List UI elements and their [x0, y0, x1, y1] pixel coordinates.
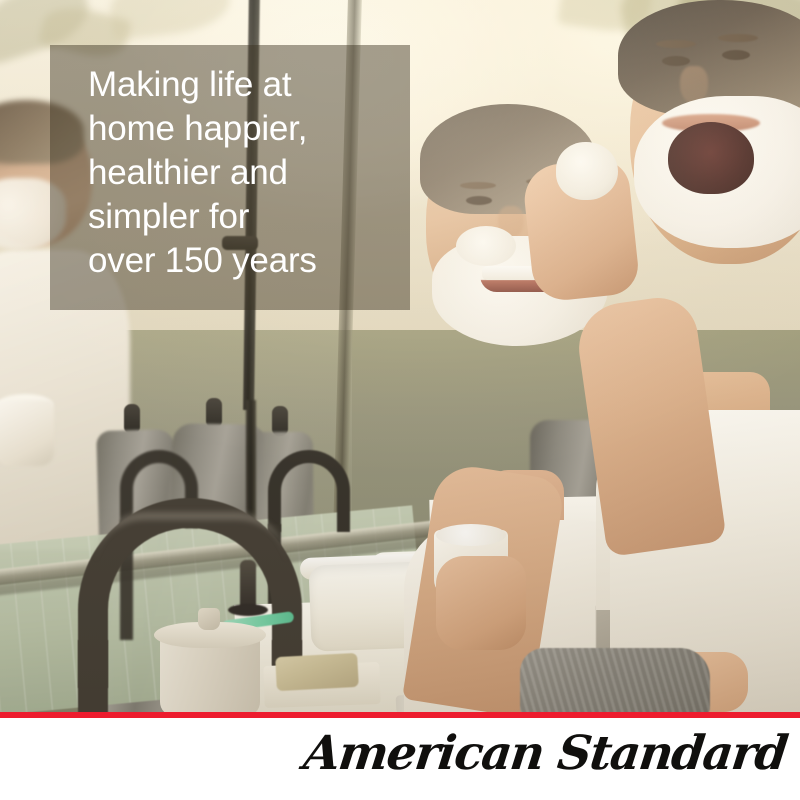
reflected-cup — [0, 400, 54, 466]
father-eye-left — [466, 196, 492, 205]
knit-towel — [520, 648, 710, 713]
son-open-mouth — [668, 122, 754, 194]
american-standard-logo: American Standard — [300, 726, 789, 781]
faucet-secondary — [268, 450, 350, 532]
son-eyebrow-right — [718, 34, 758, 42]
son-eyebrow-left — [656, 40, 696, 48]
father-eyebrow-left — [460, 182, 496, 189]
ceramic-jar-knob — [198, 608, 220, 630]
son-eye-left — [662, 56, 690, 66]
son-eye-right — [722, 50, 750, 60]
headline-text: Making life at home happier, healthier a… — [88, 63, 388, 283]
faucet-main-highlight — [96, 512, 286, 562]
father-hand — [436, 556, 526, 650]
foam-blob — [556, 142, 618, 200]
shaving-cup-foam — [436, 524, 506, 546]
father-shaving-foam-cheek — [456, 226, 516, 266]
soap-bar — [275, 653, 359, 691]
brand-banner: Making life at home happier, healthier a… — [0, 0, 800, 800]
